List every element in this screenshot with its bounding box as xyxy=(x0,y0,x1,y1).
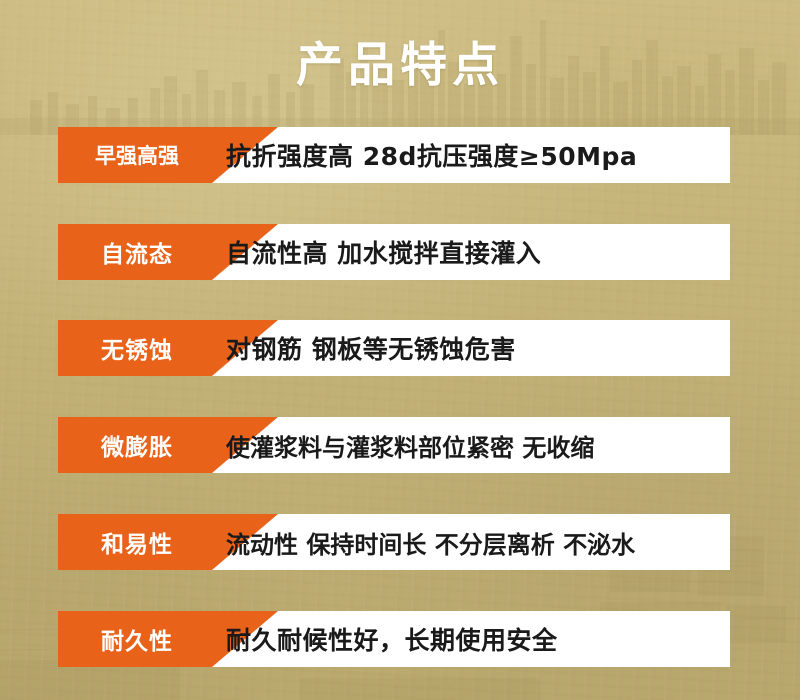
feature-row: 和易性 流动性 保持时间长 不分层离析 不泌水 xyxy=(58,514,730,570)
feature-tag-label: 微膨胀 xyxy=(58,417,216,473)
feature-tag-label: 和易性 xyxy=(58,514,216,570)
feature-tag-label: 自流态 xyxy=(58,224,216,280)
feature-row: 自流态 自流性高 加水搅拌直接灌入 xyxy=(58,224,730,280)
feature-tag-label: 耐久性 xyxy=(58,611,216,667)
feature-description: 对钢筋 钢板等无锈蚀危害 xyxy=(226,320,722,376)
feature-description: 流动性 保持时间长 不分层离析 不泌水 xyxy=(226,514,722,570)
feature-row: 耐久性 耐久耐候性好，长期使用安全 xyxy=(58,611,730,667)
feature-row: 无锈蚀 对钢筋 钢板等无锈蚀危害 xyxy=(58,320,730,376)
feature-description: 抗折强度高 28d抗压强度≥50Mpa xyxy=(226,127,722,183)
feature-tag-label: 早强高强 xyxy=(58,127,216,183)
feature-description: 自流性高 加水搅拌直接灌入 xyxy=(226,224,722,280)
product-features-poster: 产品特点 早强高强 抗折强度高 28d抗压强度≥50Mpa 自流态 自流性高 加… xyxy=(0,0,800,700)
feature-description: 使灌浆料与灌浆料部位紧密 无收缩 xyxy=(226,417,722,473)
feature-description: 耐久耐候性好，长期使用安全 xyxy=(226,611,722,667)
feature-list: 早强高强 抗折强度高 28d抗压强度≥50Mpa 自流态 自流性高 加水搅拌直接… xyxy=(0,0,800,700)
feature-row: 微膨胀 使灌浆料与灌浆料部位紧密 无收缩 xyxy=(58,417,730,473)
feature-tag-label: 无锈蚀 xyxy=(58,320,216,376)
feature-row: 早强高强 抗折强度高 28d抗压强度≥50Mpa xyxy=(58,127,730,183)
